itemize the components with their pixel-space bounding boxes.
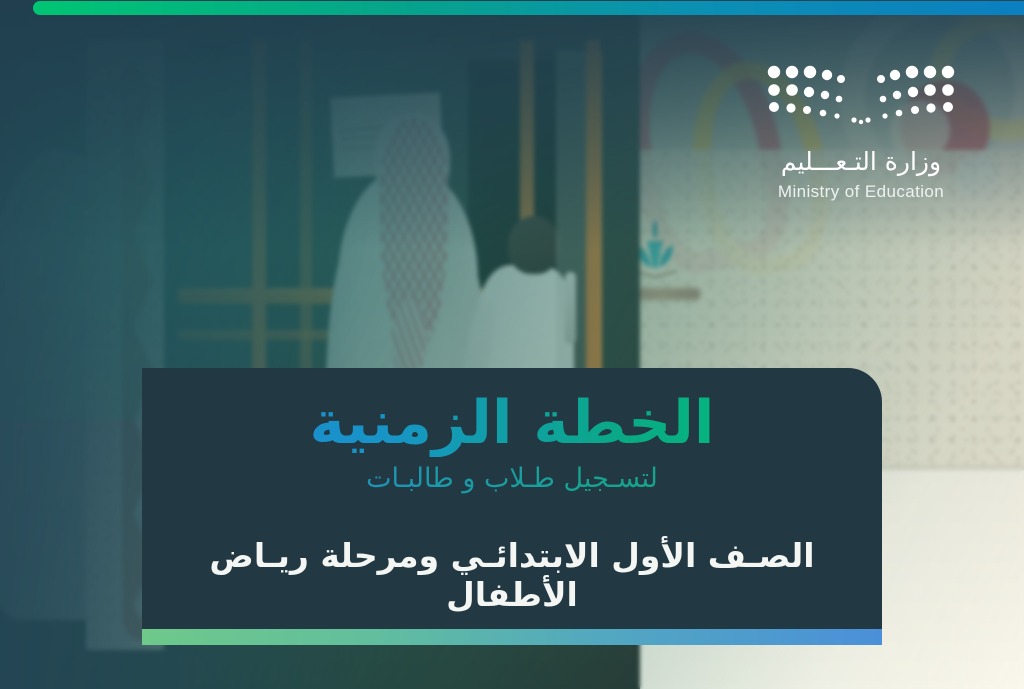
top-gradient-bar <box>33 1 1024 15</box>
page-subtitle: لتسـجيل طـلاب و طالبـات <box>172 463 852 494</box>
title-panel: الخطة الزمنية لتسـجيل طـلاب و طالبـات ال… <box>142 368 882 645</box>
logo-arabic-name: وزارة التـعـــليم <box>762 147 960 176</box>
ministry-of-education-logo: وزارة التـعـــليم Ministry of Education <box>762 63 960 215</box>
bottom-gradient-bar <box>142 629 882 645</box>
title-panel-content: الخطة الزمنية لتسـجيل طـلاب و طالبـات ال… <box>142 368 882 629</box>
page-audience-line: الصـف الأول الابتدائـي ومرحلة ريـاض الأط… <box>172 536 852 614</box>
moe-dot-palm-logo-icon <box>762 63 960 125</box>
poster-root: وزارة التـعـــليم Ministry of Education … <box>0 0 1024 689</box>
logo-english-name: Ministry of Education <box>762 182 960 202</box>
page-title: الخطة الزمنية <box>172 390 852 457</box>
